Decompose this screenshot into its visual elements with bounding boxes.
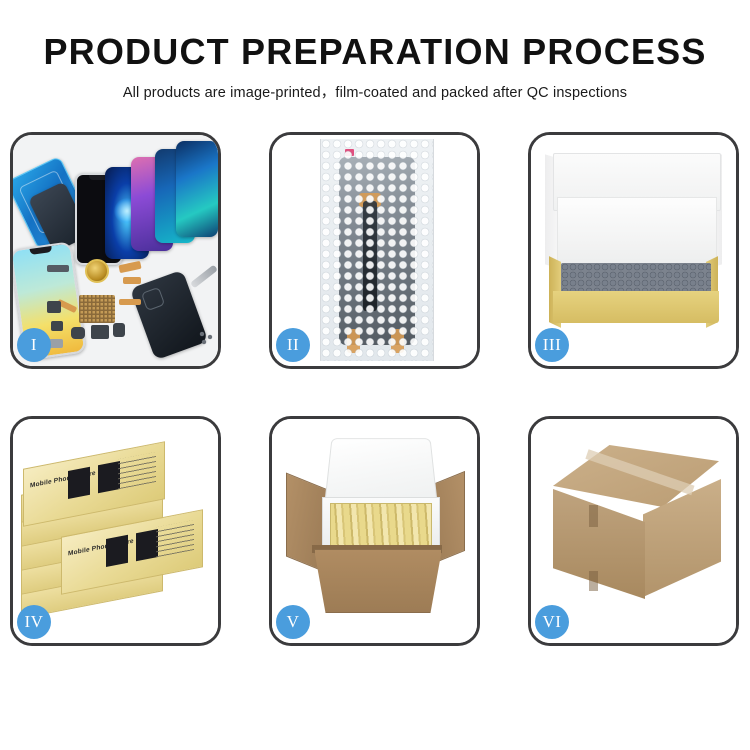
carton-seam-top-graphic — [589, 505, 598, 527]
step-badge-2: II — [276, 328, 310, 362]
tweezer-tool-graphic — [190, 265, 218, 289]
step-panel-3[interactable]: III — [528, 132, 739, 369]
retail-box-screen-art-back — [68, 461, 120, 499]
flex-cable-2-graphic — [123, 277, 141, 284]
page-subtitle: All products are image-printed，film-coat… — [0, 81, 750, 102]
carton-body-graphic — [314, 549, 442, 613]
bubble-texture-graphic — [321, 139, 433, 361]
step-badge-1: I — [17, 328, 51, 362]
flex-cable-4-graphic — [119, 299, 141, 305]
small-component-4-graphic — [91, 325, 109, 339]
retail-box-spec-lines-back — [118, 452, 156, 489]
white-foam-sheet-graphic — [557, 197, 717, 271]
step-panel-5[interactable]: V — [269, 416, 480, 646]
page-header: PRODUCT PREPARATION PROCESS All products… — [0, 0, 750, 102]
small-component-3-graphic — [71, 327, 85, 339]
retail-box-screen-art-front — [106, 529, 158, 567]
small-component-graphic — [47, 301, 61, 313]
bubble-wrap-bag-graphic — [320, 139, 434, 361]
page-title: PRODUCT PREPARATION PROCESS — [0, 32, 750, 72]
carton-front-face-graphic — [553, 489, 645, 599]
screws-graphic — [199, 331, 215, 345]
process-steps-grid: I II — [10, 132, 740, 688]
small-component-5-graphic — [113, 323, 125, 337]
vibration-motor-graphic — [85, 259, 109, 283]
retail-box-spec-lines-front — [156, 520, 194, 557]
step-badge-6: VI — [535, 605, 569, 639]
step-panel-4[interactable]: Mobile Phone Spare Parts Mobile Phone Sp… — [10, 416, 221, 646]
carton-seam-bottom-graphic — [589, 571, 598, 591]
step-panel-1[interactable]: I — [10, 132, 221, 369]
step-badge-4: IV — [17, 605, 51, 639]
speaker-part-graphic — [47, 265, 69, 272]
step-badge-3: III — [535, 328, 569, 362]
step-panel-6[interactable]: VI — [528, 416, 739, 646]
step-panel-2[interactable]: II — [269, 132, 480, 369]
small-component-2-graphic — [51, 321, 63, 331]
step-badge-5: V — [276, 605, 310, 639]
teal-display-phone-2-graphic — [176, 141, 218, 237]
box-tray-front-graphic — [553, 291, 719, 323]
flex-cable-graphic — [118, 261, 141, 273]
mesh-component-graphic — [79, 295, 115, 323]
small-component-6-graphic — [49, 339, 63, 348]
packed-retail-boxes-graphic — [330, 503, 432, 549]
